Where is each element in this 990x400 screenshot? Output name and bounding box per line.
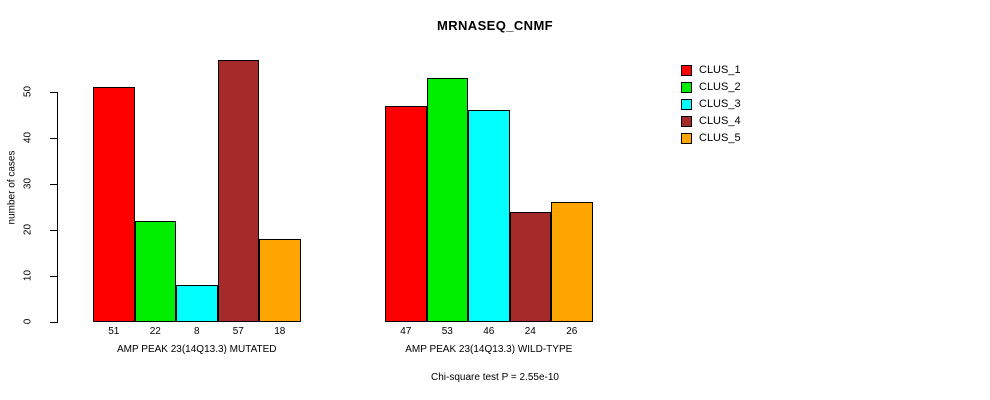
bar: [510, 212, 552, 322]
legend-item-label: CLUS_2: [699, 82, 741, 93]
bar: [427, 78, 469, 322]
legend-item-clus_4: CLUS_4: [681, 113, 741, 130]
y-axis-tick: [50, 276, 57, 277]
bar-value-label: 24: [510, 326, 552, 337]
y-axis-tick: [50, 230, 57, 231]
group-axis-label: AMP PEAK 23(14Q13.3) MUTATED: [93, 344, 301, 355]
y-axis-tick: [50, 184, 57, 185]
chart-root: MRNASEQ_CNMF 01020304050 number of cases…: [0, 0, 990, 400]
bar-value-label: 46: [468, 326, 510, 337]
legend-color-swatch: [681, 116, 692, 127]
bar-value-label: 18: [259, 326, 301, 337]
bar: [176, 285, 218, 322]
legend-color-swatch: [681, 133, 692, 144]
y-axis-tick-label: 30: [23, 164, 34, 204]
legend-item-clus_2: CLUS_2: [681, 79, 741, 96]
group-axis-label: AMP PEAK 23(14Q13.3) WILD-TYPE: [385, 344, 593, 355]
bar: [135, 221, 177, 322]
bar-value-label: 47: [385, 326, 427, 337]
bar-value-label: 57: [218, 326, 260, 337]
y-axis-tick-label: 40: [23, 118, 34, 158]
bar-value-label: 26: [551, 326, 593, 337]
y-axis-tick: [50, 322, 57, 323]
y-axis-tick: [50, 138, 57, 139]
legend-item-label: CLUS_5: [699, 133, 741, 144]
chi-square-annotation: Chi-square test P = 2.55e-10: [0, 372, 990, 383]
legend-item-label: CLUS_4: [699, 116, 741, 127]
legend-item-clus_3: CLUS_3: [681, 96, 741, 113]
y-axis-tick-label: 0: [23, 302, 34, 342]
bar: [385, 106, 427, 322]
legend-color-swatch: [681, 65, 692, 76]
y-axis-line: [57, 92, 58, 323]
legend-item-label: CLUS_3: [699, 99, 741, 110]
legend-color-swatch: [681, 99, 692, 110]
bar: [468, 110, 510, 322]
chart-title: MRNASEQ_CNMF: [0, 18, 990, 33]
bar: [218, 60, 260, 322]
y-axis-tick-label: 10: [23, 256, 34, 296]
y-axis-tick-label: 50: [23, 72, 34, 112]
y-axis-title: number of cases: [7, 138, 18, 238]
bar: [551, 202, 593, 322]
legend-item-clus_1: CLUS_1: [681, 62, 741, 79]
y-axis-tick: [50, 92, 57, 93]
bar-value-label: 8: [176, 326, 218, 337]
legend: CLUS_1CLUS_2CLUS_3CLUS_4CLUS_5: [681, 62, 741, 147]
bar: [93, 87, 135, 322]
legend-item-clus_5: CLUS_5: [681, 130, 741, 147]
legend-color-swatch: [681, 82, 692, 93]
bar-value-label: 51: [93, 326, 135, 337]
legend-item-label: CLUS_1: [699, 65, 741, 76]
bar-value-label: 53: [427, 326, 469, 337]
y-axis-tick-label: 20: [23, 210, 34, 250]
bar: [259, 239, 301, 322]
bar-value-label: 22: [135, 326, 177, 337]
